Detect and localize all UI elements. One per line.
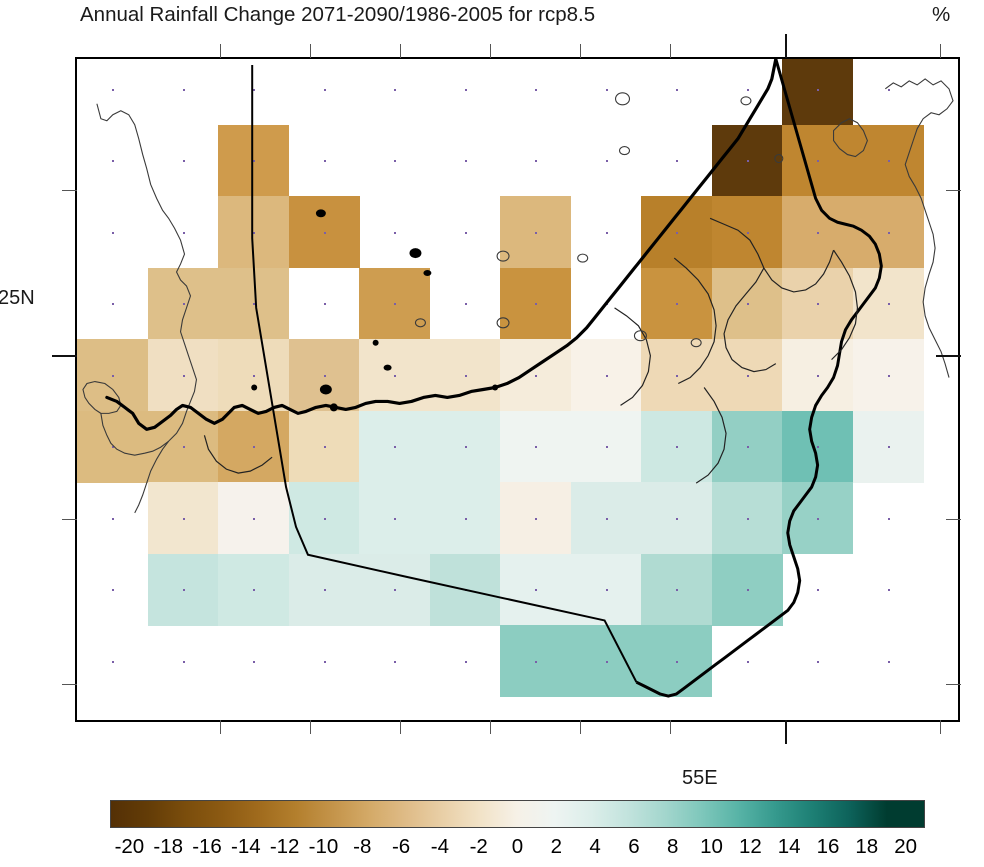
stipple-dot [747,160,749,162]
x-axis-tick [400,44,401,58]
colorbar-band [481,801,518,827]
x-axis-tick [670,720,671,734]
chart-title: Annual Rainfall Change 2071-2090/1986-20… [80,0,900,30]
stipple-dot [394,303,396,305]
colorbar-tick-label: -4 [431,834,449,860]
stipple-dot [888,661,890,663]
colorbar-tick-label: 18 [855,834,878,860]
stipple-dot [817,303,819,305]
units-label: % [932,0,950,30]
stipple-dot [324,518,326,520]
colorbar-tick-label: -12 [270,834,300,860]
x-axis-tick [940,44,941,58]
x-axis-tick [490,44,491,58]
stipple-dot [676,232,678,234]
stipple-dot [324,589,326,591]
stipple-dot [747,518,749,520]
stipple-dot [112,303,114,305]
colorbar-band [370,801,407,827]
stipple-dot [112,518,114,520]
stipple-dot [253,232,255,234]
stipple-dot [606,375,608,377]
stipple-dot [324,661,326,663]
stipple-dot [253,89,255,91]
stipple-dot [324,89,326,91]
colorbar-band [517,801,554,827]
stipple-dot [535,232,537,234]
stipple-dot [888,303,890,305]
stipple-dot [817,232,819,234]
stipple-marker-layer [77,59,958,720]
colorbar-tick-label: 16 [817,834,840,860]
y-axis-tick [52,355,77,357]
stipple-dot [747,661,749,663]
stipple-dot [394,89,396,91]
stipple-dot [817,89,819,91]
colorbar-band [333,801,370,827]
colorbar-tick-label: 12 [739,834,762,860]
stipple-dot [183,661,185,663]
x-axis-tick [940,720,941,734]
stipple-dot [183,160,185,162]
stipple-dot [817,160,819,162]
colorbar-band [628,801,665,827]
colorbar-tick-label: -2 [470,834,488,860]
x-axis-tick [490,720,491,734]
stipple-dot [394,160,396,162]
stipple-dot [747,232,749,234]
stipple-dot [324,446,326,448]
stipple-dot [394,661,396,663]
stipple-dot [465,89,467,91]
stipple-dot [465,518,467,520]
y-axis-tick [62,519,77,520]
colorbar-band [887,801,924,827]
stipple-dot [183,89,185,91]
x-axis-tick [400,720,401,734]
stipple-dot [888,232,890,234]
stipple-dot [888,375,890,377]
stipple-dot [817,589,819,591]
stipple-dot [676,661,678,663]
stipple-dot [747,375,749,377]
stipple-dot [324,375,326,377]
colorbar-tick-label: -10 [309,834,339,860]
stipple-dot [253,661,255,663]
colorbar-tick-label: 6 [628,834,639,860]
stipple-dot [676,303,678,305]
stipple-dot [183,446,185,448]
stipple-dot [183,518,185,520]
colorbar-band [444,801,481,827]
stipple-dot [747,303,749,305]
stipple-dot [394,375,396,377]
stipple-dot [888,89,890,91]
y-axis-tick [936,355,961,357]
stipple-dot [606,232,608,234]
colorbar-tick-label: -8 [353,834,371,860]
stipple-dot [676,446,678,448]
stipple-dot [253,375,255,377]
stipple-dot [253,589,255,591]
y-axis-tick [62,684,77,685]
colorbar-tick-label: 10 [700,834,723,860]
stipple-dot [112,375,114,377]
stipple-dot [535,446,537,448]
stipple-dot [253,303,255,305]
colorbar-tick-label: -20 [115,834,145,860]
stipple-dot [817,518,819,520]
stipple-dot [112,446,114,448]
colorbar-band [850,801,887,827]
stipple-dot [394,446,396,448]
map-plot-area [75,57,960,722]
colorbar-band [554,801,591,827]
stipple-dot [465,303,467,305]
colorbar-band [259,801,296,827]
colorbar-band [222,801,259,827]
stipple-dot [676,518,678,520]
stipple-dot [817,446,819,448]
stipple-dot [606,446,608,448]
colorbar-tick-label: -14 [231,834,261,860]
stipple-dot [535,303,537,305]
x-axis-tick [310,720,311,734]
colorbar-tick-label: 4 [589,834,600,860]
x-axis-tick [785,34,787,58]
stipple-dot [183,232,185,234]
x-axis-tick [580,44,581,58]
stipple-dot [747,89,749,91]
colorbar-band [813,801,850,827]
stipple-dot [747,446,749,448]
stipple-dot [183,303,185,305]
stipple-dot [606,89,608,91]
stipple-dot [535,661,537,663]
stipple-dot [606,518,608,520]
x-axis-tick [785,720,787,744]
stipple-dot [888,589,890,591]
stipple-dot [465,160,467,162]
stipple-dot [606,661,608,663]
stipple-dot [324,303,326,305]
stipple-dot [465,589,467,591]
y-axis-tick [62,190,77,191]
stipple-dot [817,661,819,663]
colorbar-band [296,801,333,827]
stipple-dot [676,589,678,591]
x-axis-label: 55E [682,768,718,788]
stipple-dot [888,160,890,162]
stipple-dot [112,661,114,663]
stipple-dot [676,375,678,377]
stipple-dot [394,518,396,520]
x-axis-tick [580,720,581,734]
stipple-dot [253,518,255,520]
x-axis-tick [220,44,221,58]
stipple-dot [817,375,819,377]
stipple-dot [606,303,608,305]
colorbar-tick-label: 20 [894,834,917,860]
y-axis-tick [946,684,961,685]
colorbar-tick-label: -6 [392,834,410,860]
stipple-dot [535,518,537,520]
colorbar-tick-label: -16 [192,834,222,860]
stipple-dot [676,160,678,162]
stipple-dot [253,446,255,448]
colorbar-band [776,801,813,827]
colorbar-tick-label: 14 [778,834,801,860]
stipple-dot [112,89,114,91]
stipple-dot [888,518,890,520]
colorbar [110,800,925,828]
y-axis-tick [946,519,961,520]
colorbar-band [185,801,222,827]
stipple-dot [112,232,114,234]
stipple-dot [535,375,537,377]
stipple-dot [888,446,890,448]
stipple-dot [394,589,396,591]
stipple-dot [253,160,255,162]
x-axis-tick [670,44,671,58]
stipple-dot [324,232,326,234]
colorbar-band [591,801,628,827]
stipple-dot [535,160,537,162]
stipple-dot [747,589,749,591]
y-axis-label: 25N [0,288,35,308]
stipple-dot [606,160,608,162]
colorbar-tick-labels: -20-18-16-14-12-10-8-6-4-202468101214161… [110,834,925,862]
colorbar-band [665,801,702,827]
stipple-dot [183,375,185,377]
figure-canvas: Annual Rainfall Change 2071-2090/1986-20… [0,0,984,867]
stipple-dot [465,661,467,663]
stipple-dot [112,160,114,162]
stipple-dot [465,375,467,377]
stipple-dot [465,446,467,448]
x-axis-tick [310,44,311,58]
stipple-dot [535,89,537,91]
colorbar-tick-label: 8 [667,834,678,860]
colorbar-band [111,801,148,827]
stipple-dot [676,89,678,91]
stipple-dot [535,589,537,591]
y-axis-tick [946,190,961,191]
colorbar-tick-label: 2 [551,834,562,860]
x-axis-tick [220,720,221,734]
colorbar-band [148,801,185,827]
colorbar-band [407,801,444,827]
stipple-dot [465,232,467,234]
stipple-dot [394,232,396,234]
colorbar-band [739,801,776,827]
stipple-dot [606,589,608,591]
stipple-dot [112,589,114,591]
stipple-dot [183,589,185,591]
colorbar-band [702,801,739,827]
stipple-dot [324,160,326,162]
colorbar-tick-label: -18 [153,834,183,860]
colorbar-tick-label: 0 [512,834,523,860]
